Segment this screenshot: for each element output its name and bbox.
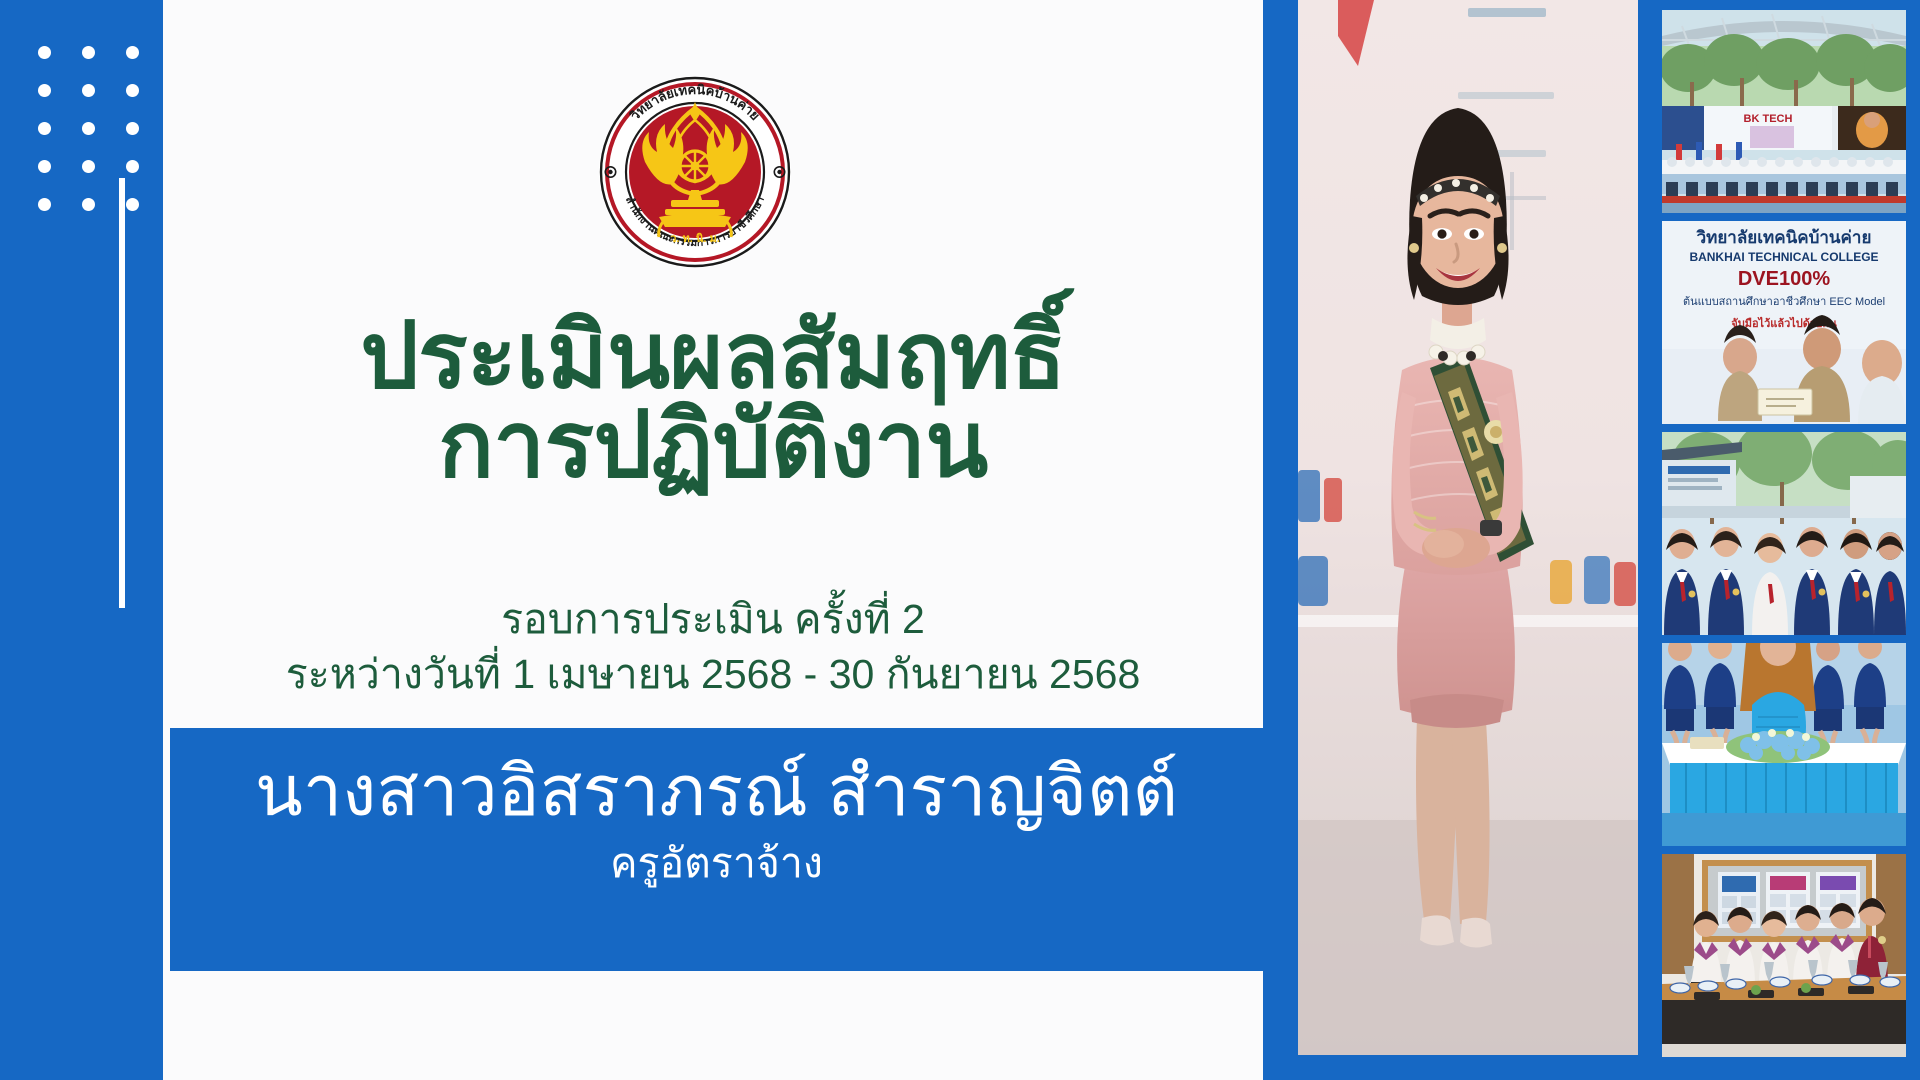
dot (82, 198, 95, 211)
photo-assembly-bk-tech: BK TECH (1662, 10, 1906, 213)
college-name-th: วิทยาลัยเทคนิคบ้านค่าย (1696, 228, 1871, 247)
title-line-2: การปฏิบัติงาน (163, 401, 1263, 490)
vertical-rule-decoration (119, 178, 125, 608)
eec-model-subtitle: ต้นแบบสถานศึกษาอาชีวศึกษา EEC Model (1683, 295, 1885, 308)
evaluation-round: รอบการประเมิน ครั้งที่ 2 (163, 592, 1263, 647)
award-photo-illustration: วิทยาลัยเทคนิคบ้านค่าย BANKHAI TECHNICAL… (1662, 221, 1906, 424)
title-line-1: ประเมินผลสัมฤทธิ์ (163, 312, 1263, 401)
dot (82, 84, 95, 97)
seal-inner-abbrev: ว. ท. นิ. ม. (670, 232, 720, 245)
dot (38, 160, 51, 173)
photo-signing-ceremony (1662, 643, 1906, 846)
slide-canvas: วิทยาลัยเทคนิคบ้านค่าย สำนักงานคณะกรรมกา… (0, 0, 1920, 1080)
photo-students-blue-blazers (1662, 432, 1906, 635)
portrait-illustration (1298, 0, 1638, 1055)
person-role: ครูอัตราจ้าง (610, 839, 823, 888)
students-photo-illustration (1662, 432, 1906, 635)
dot (126, 122, 139, 135)
left-accent-rail (0, 0, 163, 1080)
main-portrait-photo (1298, 0, 1638, 1055)
photo-collage: BK TECH (1662, 10, 1906, 1070)
bk-tech-banner-text: BK TECH (1744, 113, 1793, 125)
dot (126, 160, 139, 173)
name-banner: นางสาวอิสราภรณ์ สำราญจิตต์ ครูอัตราจ้าง (170, 728, 1263, 971)
dot (38, 122, 51, 135)
evaluation-period: ระหว่างวันที่ 1 เมษายน 2568 - 30 กันยายน… (163, 647, 1263, 702)
content-card-footer (163, 971, 1263, 1080)
assembly-photo-illustration: BK TECH (1662, 10, 1906, 213)
photo-hospitality-table-setting (1662, 854, 1906, 1057)
college-seal-icon: วิทยาลัยเทคนิคบ้านค่าย สำนักงานคณะกรรมกา… (595, 72, 795, 272)
photo-award-dve100: วิทยาลัยเทคนิคบ้านค่าย BANKHAI TECHNICAL… (1662, 221, 1906, 424)
dot (82, 122, 95, 135)
dot (126, 46, 139, 59)
hospitality-photo-illustration (1662, 854, 1906, 1057)
dot (82, 46, 95, 59)
dot (126, 84, 139, 97)
dot (82, 160, 95, 173)
person-name: นางสาวอิสราภรณ์ สำราญจิตต์ (255, 750, 1178, 833)
dot (38, 198, 51, 211)
college-seal-logo: วิทยาลัยเทคนิคบ้านค่าย สำนักงานคณะกรรมกา… (595, 72, 795, 272)
page-subtitle: รอบการประเมิน ครั้งที่ 2 ระหว่างวันที่ 1… (163, 592, 1263, 702)
signing-photo-illustration (1662, 643, 1906, 846)
dot (38, 84, 51, 97)
college-name-en: BANKHAI TECHNICAL COLLEGE (1689, 250, 1878, 264)
dve-badge: DVE100% (1738, 268, 1830, 290)
dot-pattern-decoration (38, 46, 170, 236)
dot (126, 198, 139, 211)
page-title: ประเมินผลสัมฤทธิ์ การปฏิบัติงาน (163, 312, 1263, 490)
dot (38, 46, 51, 59)
